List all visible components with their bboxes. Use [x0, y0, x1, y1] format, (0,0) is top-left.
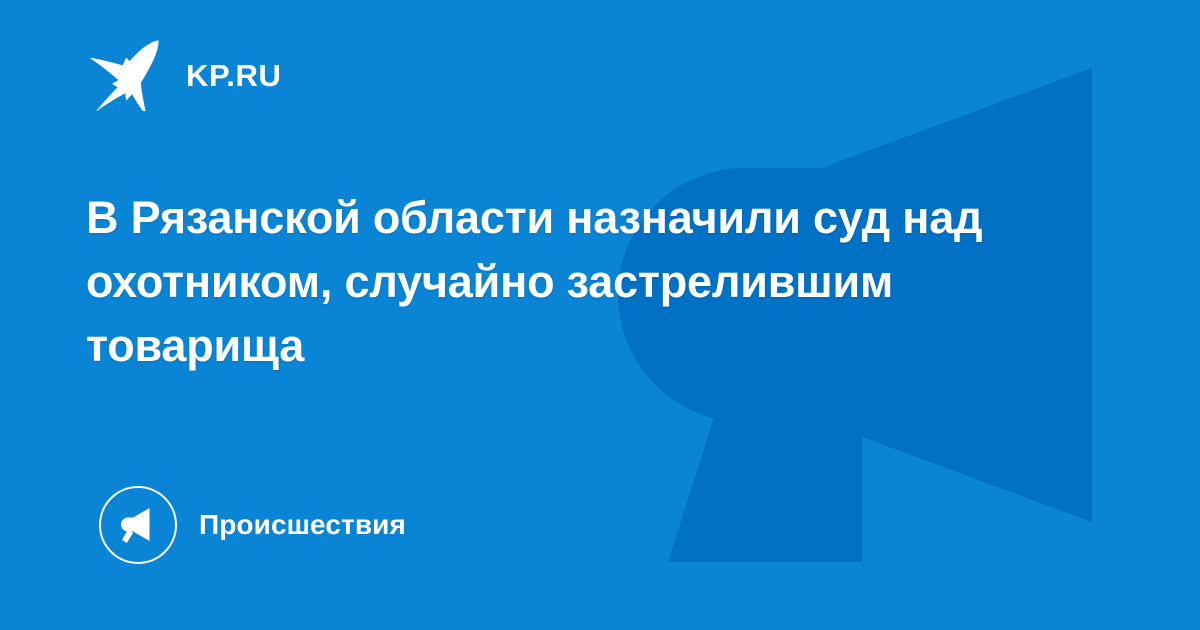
- social-share-card: KP.RU В Рязанской области назначили суд …: [0, 0, 1200, 630]
- brand-wordmark: KP.RU: [186, 60, 281, 91]
- megaphone-icon: [117, 504, 159, 546]
- category-icon-circle: [99, 486, 177, 564]
- category-badge[interactable]: Происшествия: [99, 486, 406, 564]
- category-label: Происшествия: [199, 511, 406, 539]
- brand-row[interactable]: KP.RU: [88, 36, 281, 112]
- headline: В Рязанской области назначили суд над ох…: [86, 186, 1046, 378]
- swallow-bird-icon: [88, 37, 162, 111]
